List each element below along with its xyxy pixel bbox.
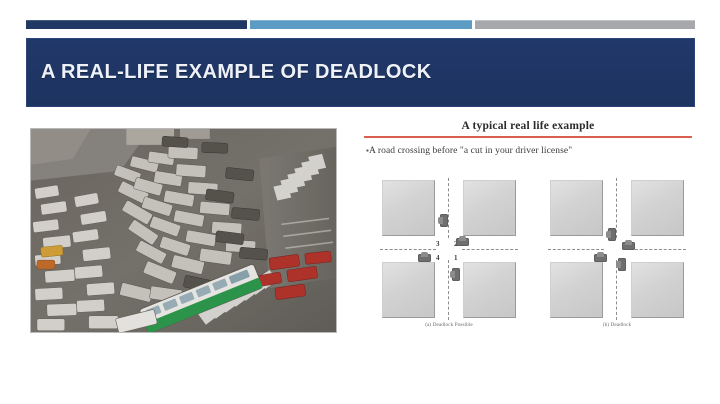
- car-east-approach: [456, 238, 469, 246]
- traffic-gridlock-photo-image: [31, 129, 336, 333]
- city-block-top-left: [550, 180, 603, 236]
- diagram-deadlock: (b) Deadlock: [546, 176, 688, 338]
- city-block-top-right: [631, 180, 684, 236]
- lane-divider-vertical-upper: [448, 178, 449, 238]
- lane-divider-vertical-lower: [616, 260, 617, 320]
- city-block-bottom-left: [550, 262, 603, 318]
- quadrant-label-1: 1: [454, 254, 458, 262]
- title-band: A REAL-LIFE EXAMPLE OF DEADLOCK: [26, 38, 695, 107]
- intersection-grid-b: [546, 176, 688, 322]
- figure-heading: A typical real life example: [360, 120, 696, 132]
- diagram-deadlock-possible: 3 2 4 1 (a) Deadlock Possible: [378, 176, 520, 338]
- city-block-top-left: [382, 180, 435, 236]
- city-block-top-right: [463, 180, 516, 236]
- page-title: A REAL-LIFE EXAMPLE OF DEADLOCK: [27, 61, 432, 84]
- city-block-bottom-right: [631, 262, 684, 318]
- city-block-bottom-right: [463, 262, 516, 318]
- figure-bullet-text: A road crossing before "a cut in your dr…: [369, 146, 572, 156]
- accent-segment-navy: [26, 20, 247, 29]
- car-north-approach: [440, 214, 448, 227]
- accent-segment-blue: [250, 20, 472, 29]
- lane-divider-horizontal-left: [380, 249, 436, 250]
- quadrant-label-3: 3: [436, 240, 440, 248]
- car-west-approach: [418, 254, 431, 262]
- figure-rule: [364, 136, 692, 138]
- accent-segment-gray: [475, 20, 695, 29]
- accent-bar: [26, 20, 695, 29]
- lane-divider-horizontal-right: [462, 249, 518, 250]
- diagram-caption-b: (b) Deadlock: [546, 322, 688, 328]
- car-center-east: [622, 242, 635, 250]
- quadrant-label-4: 4: [436, 254, 440, 262]
- lane-divider-vertical-upper: [616, 178, 617, 238]
- city-block-bottom-left: [382, 262, 435, 318]
- diagram-caption-a: (a) Deadlock Possible: [378, 322, 520, 328]
- lane-divider-vertical-lower: [448, 260, 449, 320]
- intersection-diagrams: 3 2 4 1 (a) Deadlock Possible: [378, 176, 688, 338]
- car-center-west: [594, 254, 607, 262]
- intersection-grid-a: 3 2 4 1: [378, 176, 520, 322]
- car-center-south: [618, 258, 626, 271]
- lane-divider-horizontal-left: [548, 249, 604, 250]
- car-center-north: [608, 228, 616, 241]
- slide: A REAL-LIFE EXAMPLE OF DEADLOCK: [0, 0, 720, 404]
- lane-divider-horizontal-right: [630, 249, 686, 250]
- traffic-gridlock-photo: [30, 128, 337, 333]
- figure-pane: A typical real life example ▪A road cros…: [360, 118, 696, 343]
- figure-bullet: ▪A road crossing before "a cut in your d…: [366, 146, 696, 156]
- car-south-approach: [452, 268, 460, 281]
